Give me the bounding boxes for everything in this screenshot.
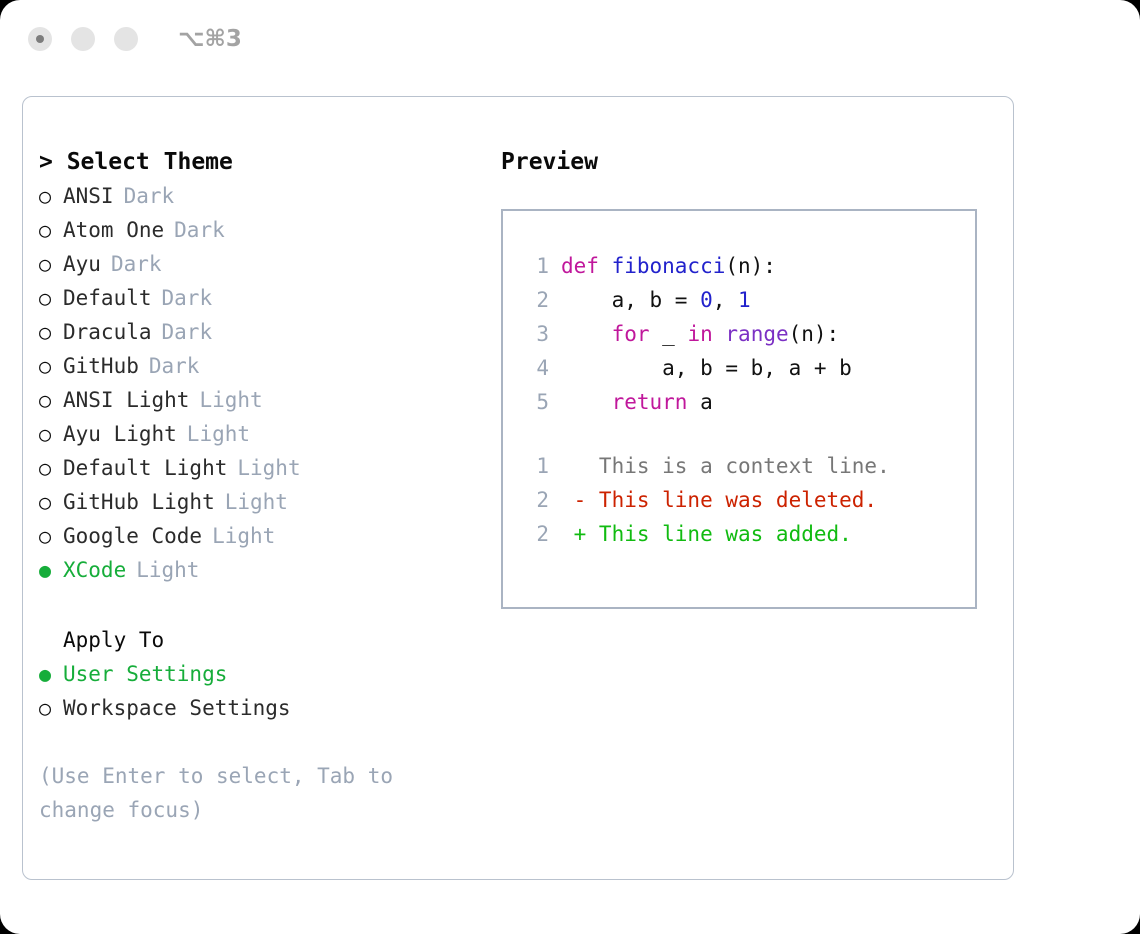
radio-selected-icon: ● (39, 553, 63, 587)
theme-list-item[interactable]: ○ANSIDark (39, 179, 489, 213)
theme-list: ○ANSIDark○Atom OneDark○AyuDark○DefaultDa… (39, 179, 489, 587)
diff-line: 1 This is a context line. (503, 449, 975, 483)
diff-preview: 1 This is a context line.2 - This line w… (503, 449, 975, 551)
theme-name: ANSI (63, 179, 114, 213)
window-dot-second[interactable] (71, 27, 95, 51)
theme-variant-tag: Light (212, 519, 275, 553)
theme-name: XCode (63, 553, 126, 587)
app-window: ⌥⌘3 > Select Theme ○ANSIDark○Atom OneDar… (0, 0, 1140, 934)
select-theme-header: > Select Theme (39, 145, 489, 179)
diff-line: 2 - This line was deleted. (503, 483, 975, 517)
theme-name: Default (63, 281, 152, 315)
radio-unselected-icon: ○ (39, 485, 63, 519)
window-dot-inner (36, 35, 44, 43)
token: (n): (725, 254, 776, 278)
window-dot-active[interactable] (28, 27, 52, 51)
token: This is a context line. (561, 454, 890, 478)
code-line: 2 a, b = 0, 1 (503, 283, 975, 317)
token: in (687, 322, 712, 346)
theme-variant-tag: Dark (162, 281, 213, 315)
token (561, 322, 612, 346)
theme-name: GitHub (63, 349, 139, 383)
token (713, 322, 726, 346)
theme-name: Ayu Light (63, 417, 177, 451)
line-content: return a (561, 385, 713, 419)
token: return (612, 390, 688, 414)
theme-list-item[interactable]: ○DefaultDark (39, 281, 489, 315)
token: (n): (789, 322, 840, 346)
apply-to-option[interactable]: ○Workspace Settings (39, 691, 489, 725)
radio-unselected-icon: ○ (39, 315, 63, 349)
code-preview: 1def fibonacci(n):2 a, b = 0, 13 for _ i… (503, 249, 975, 419)
radio-unselected-icon: ○ (39, 519, 63, 553)
window-dot-third[interactable] (114, 27, 138, 51)
theme-list-item[interactable]: ○DraculaDark (39, 315, 489, 349)
theme-variant-tag: Dark (124, 179, 175, 213)
token: + This line was added. (561, 522, 852, 546)
theme-name: Google Code (63, 519, 202, 553)
theme-list-item[interactable]: ○Google CodeLight (39, 519, 489, 553)
token: range (725, 322, 788, 346)
radio-unselected-icon: ○ (39, 213, 63, 247)
window-controls (28, 27, 138, 51)
token: def (561, 254, 612, 278)
main-panel: > Select Theme ○ANSIDark○Atom OneDark○Ay… (22, 96, 1014, 880)
theme-variant-tag: Light (225, 485, 288, 519)
line-number: 1 (523, 449, 549, 483)
theme-list-item[interactable]: ○ANSI LightLight (39, 383, 489, 417)
theme-list-item[interactable]: ○AyuDark (39, 247, 489, 281)
line-number: 2 (523, 483, 549, 517)
radio-unselected-icon: ○ (39, 349, 63, 383)
line-content: def fibonacci(n): (561, 249, 776, 283)
token: _ (650, 322, 688, 346)
token: 0 (700, 288, 713, 312)
theme-name: Ayu (63, 247, 101, 281)
theme-variant-tag: Light (199, 383, 262, 417)
radio-unselected-icon: ○ (39, 417, 63, 451)
theme-preview-box: 1def fibonacci(n):2 a, b = 0, 13 for _ i… (501, 209, 977, 609)
line-number: 2 (523, 517, 549, 551)
radio-unselected-icon: ○ (39, 383, 63, 417)
code-line: 1def fibonacci(n): (503, 249, 975, 283)
theme-variant-tag: Dark (162, 315, 213, 349)
line-content: a, b = 0, 1 (561, 283, 751, 317)
radio-unselected-icon: ○ (39, 451, 63, 485)
keyboard-shortcut-label: ⌥⌘3 (178, 26, 242, 52)
line-number: 2 (523, 283, 549, 317)
token: a, b = b, a + b (561, 356, 852, 380)
token: 1 (738, 288, 751, 312)
code-line: 4 a, b = b, a + b (503, 351, 975, 385)
theme-list-item[interactable]: ○GitHub LightLight (39, 485, 489, 519)
apply-to-list: ●User Settings○Workspace Settings (39, 657, 489, 725)
theme-list-item[interactable]: ○GitHubDark (39, 349, 489, 383)
line-number: 5 (523, 385, 549, 419)
line-content: + This line was added. (561, 517, 852, 551)
theme-name: Atom One (63, 213, 164, 247)
theme-name: GitHub Light (63, 485, 215, 519)
apply-to-option[interactable]: ●User Settings (39, 657, 489, 691)
theme-name: Dracula (63, 315, 152, 349)
apply-to-header: Apply To (39, 623, 489, 657)
code-line: 3 for _ in range(n): (503, 317, 975, 351)
radio-unselected-icon: ○ (39, 281, 63, 315)
radio-unselected-icon: ○ (39, 691, 63, 725)
theme-variant-tag: Dark (111, 247, 162, 281)
apply-to-label: User Settings (63, 657, 227, 691)
line-number: 1 (523, 249, 549, 283)
radio-selected-icon: ● (39, 657, 63, 691)
theme-variant-tag: Dark (149, 349, 200, 383)
theme-list-item[interactable]: ○Ayu LightLight (39, 417, 489, 451)
preview-spacer (503, 419, 975, 449)
theme-list-item[interactable]: ○Atom OneDark (39, 213, 489, 247)
token: fibonacci (612, 254, 726, 278)
line-number: 4 (523, 351, 549, 385)
theme-variant-tag: Light (136, 553, 199, 587)
title-bar: ⌥⌘3 (0, 0, 1140, 78)
preview-column: Preview 1def fibonacci(n):2 a, b = 0, 13… (501, 145, 991, 609)
line-number: 3 (523, 317, 549, 351)
theme-variant-tag: Dark (174, 213, 225, 247)
token: - This line was deleted. (561, 488, 877, 512)
theme-selector-column: > Select Theme ○ANSIDark○Atom OneDark○Ay… (39, 145, 489, 827)
token: a (687, 390, 712, 414)
line-content: for _ in range(n): (561, 317, 839, 351)
theme-list-item[interactable]: ○Default LightLight (39, 451, 489, 485)
radio-unselected-icon: ○ (39, 247, 63, 281)
apply-to-label: Workspace Settings (63, 691, 291, 725)
code-line: 5 return a (503, 385, 975, 419)
line-content: This is a context line. (561, 449, 890, 483)
keyboard-hint-text: (Use Enter to select, Tab to change focu… (39, 759, 439, 827)
preview-header: Preview (501, 145, 991, 179)
theme-variant-tag: Light (237, 451, 300, 485)
token: a, b = (561, 288, 700, 312)
radio-unselected-icon: ○ (39, 179, 63, 213)
line-content: - This line was deleted. (561, 483, 877, 517)
theme-name: Default Light (63, 451, 227, 485)
diff-line: 2 + This line was added. (503, 517, 975, 551)
token: , (713, 288, 738, 312)
theme-name: ANSI Light (63, 383, 189, 417)
line-content: a, b = b, a + b (561, 351, 852, 385)
token: for (612, 322, 650, 346)
token (561, 390, 612, 414)
theme-variant-tag: Light (187, 417, 250, 451)
theme-list-item[interactable]: ●XCodeLight (39, 553, 489, 587)
